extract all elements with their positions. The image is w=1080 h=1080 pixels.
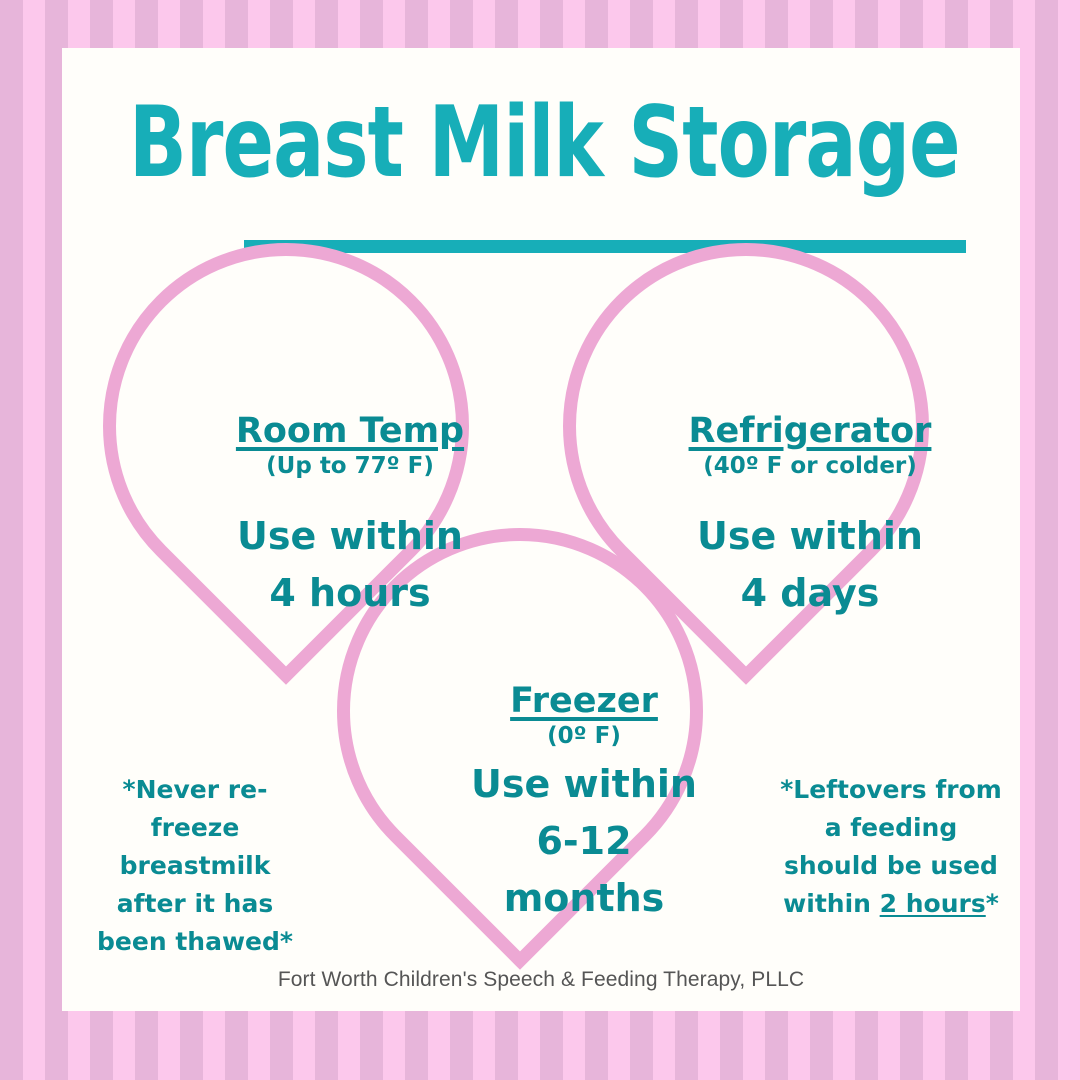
- droplet-subheading-room-temp: (Up to 77º F): [165, 452, 535, 482]
- droplet-body-line-3: months: [399, 870, 769, 927]
- page-title: Breast Milk Storage: [129, 92, 953, 195]
- title-underline: [244, 240, 966, 253]
- droplet-heading-freezer: Freezer: [399, 681, 769, 722]
- droplet-body-line-1: Use within: [399, 756, 769, 813]
- note-leftovers-emphasis: 2 hours: [880, 889, 986, 918]
- droplet-body-line-2: 4 hours: [165, 565, 535, 622]
- droplet-body-refrigerator: Use within 4 days: [625, 508, 995, 622]
- droplet-body-line-2: 4 days: [625, 565, 995, 622]
- droplet-content-freezer: Freezer (0º F) Use within 6-12 months: [399, 681, 769, 927]
- droplet-body-room-temp: Use within 4 hours: [165, 508, 535, 622]
- droplet-body-freezer: Use within 6-12 months: [399, 756, 769, 927]
- note-leftovers-text-end: *: [986, 889, 999, 918]
- droplet-content-room-temp: Room Temp (Up to 77º F) Use within 4 hou…: [165, 411, 535, 622]
- droplet-subheading-freezer: (0º F): [399, 722, 769, 752]
- droplet-body-line-1: Use within: [165, 508, 535, 565]
- poster-canvas: Breast Milk Storage Room Temp (Up to 77º…: [0, 0, 1080, 1080]
- credit-line: Fort Worth Children's Speech & Feeding T…: [62, 968, 1020, 992]
- note-never-refreeze: *Never re-freeze breastmilk after it has…: [84, 771, 306, 961]
- droplet-body-line-2: 6-12: [399, 813, 769, 870]
- note-leftovers: *Leftovers from a feeding should be used…: [780, 771, 1002, 923]
- droplet-content-refrigerator: Refrigerator (40º F or colder) Use withi…: [625, 411, 995, 622]
- droplet-body-line-1: Use within: [625, 508, 995, 565]
- content-card: Breast Milk Storage Room Temp (Up to 77º…: [62, 48, 1020, 1011]
- droplet-subheading-refrigerator: (40º F or colder): [625, 452, 995, 482]
- droplet-heading-refrigerator: Refrigerator: [625, 411, 995, 452]
- droplet-heading-room-temp: Room Temp: [165, 411, 535, 452]
